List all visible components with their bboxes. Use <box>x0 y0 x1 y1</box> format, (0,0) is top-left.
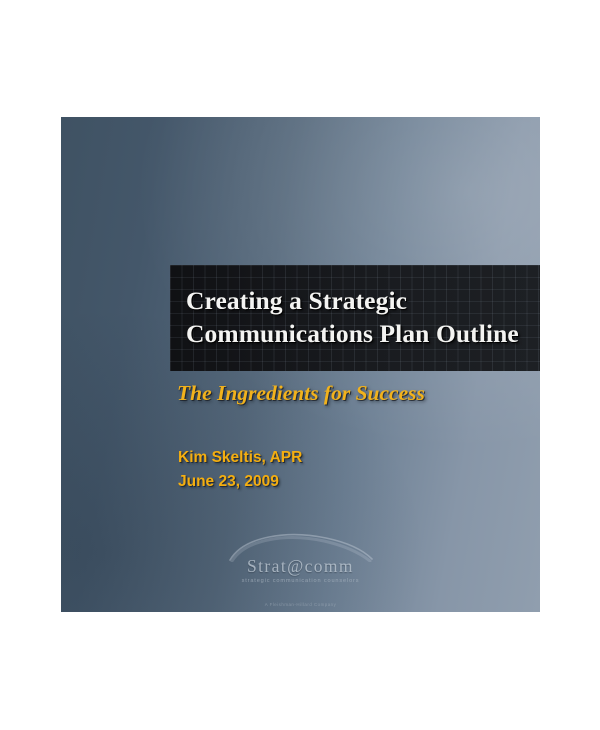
presenter-name: Kim Skeltis, APR <box>178 446 302 470</box>
logo-wordmark: Strat@comm <box>61 556 540 576</box>
page-root: Creating a Strategic Communications Plan… <box>0 0 600 730</box>
logo-lockup: Strat@comm strategic communication couns… <box>61 532 540 609</box>
logo-tagline: strategic communication counselors <box>61 577 540 586</box>
title-banner: Creating a Strategic Communications Plan… <box>170 265 540 371</box>
presenter-block: Kim Skeltis, APR June 23, 2009 <box>178 446 302 494</box>
presentation-date: June 23, 2009 <box>178 470 302 494</box>
logo-parent-company: A Fleishman-Hillard Company <box>61 601 540 609</box>
slide-title-line-2: Communications Plan Outline <box>186 317 536 350</box>
slide-title-line-1: Creating a Strategic <box>186 284 536 317</box>
presentation-title-slide: Creating a Strategic Communications Plan… <box>61 117 540 612</box>
slide-subtitle: The Ingredients for Success <box>177 380 425 406</box>
title-text-group: Creating a Strategic Communications Plan… <box>186 284 536 350</box>
